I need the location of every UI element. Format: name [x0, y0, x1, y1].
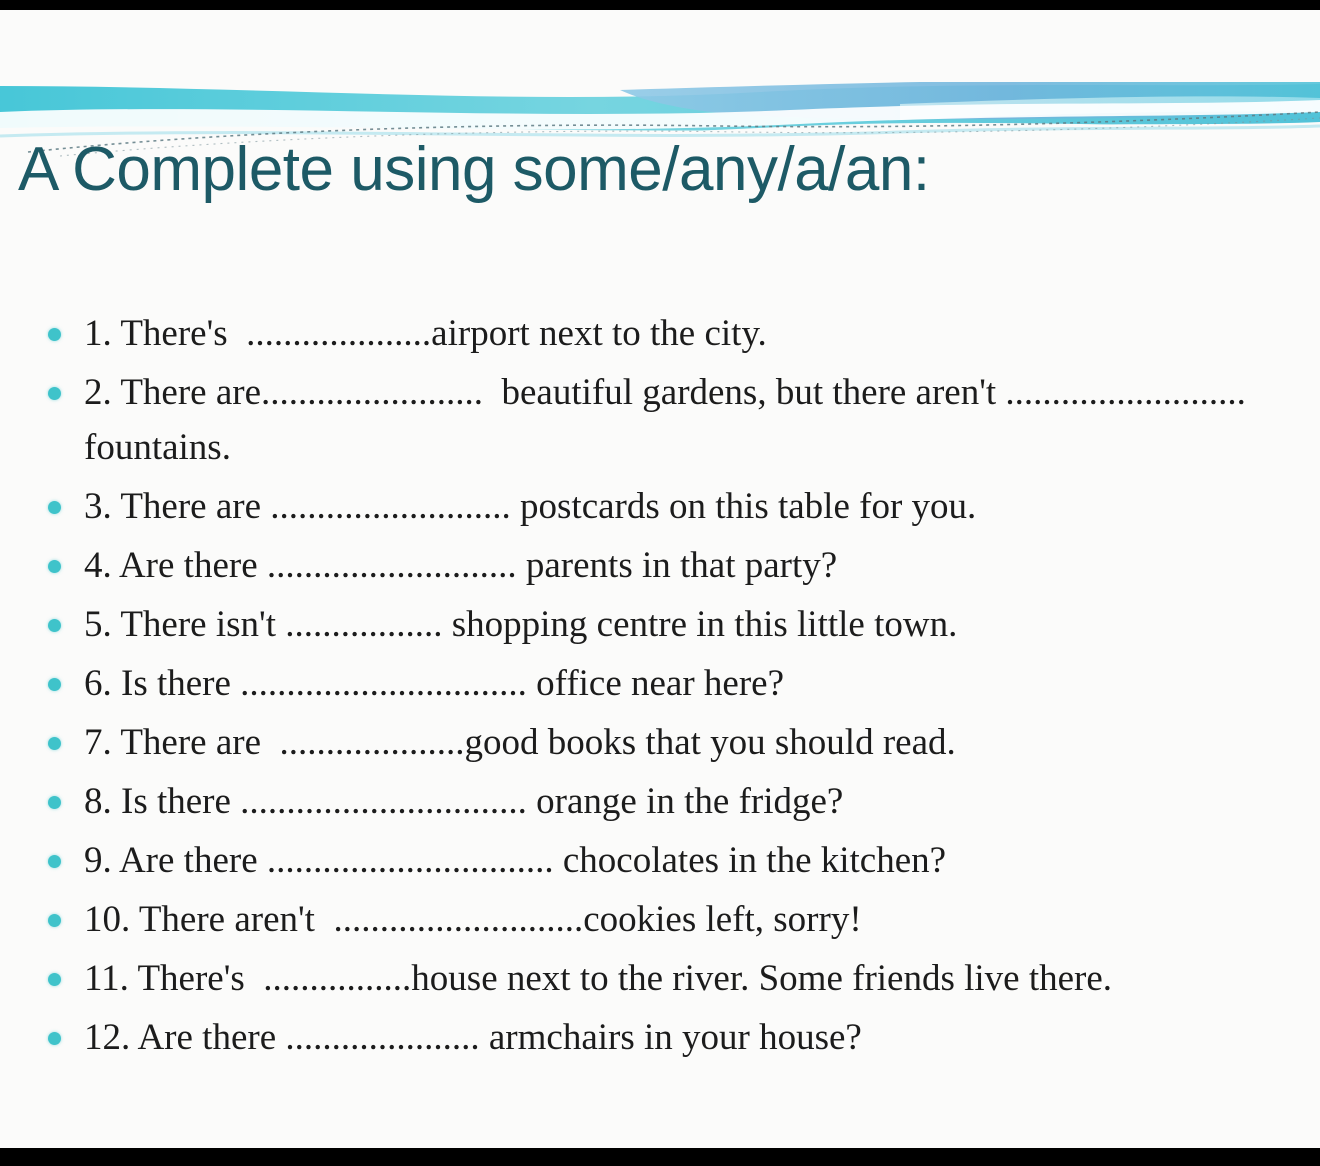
- bullet-dot-icon: [48, 973, 61, 986]
- list-item: 10. There aren't .......................…: [44, 892, 1302, 947]
- bullet-dot-icon: [48, 737, 61, 750]
- list-item-label: 4. Are there ...........................…: [84, 538, 1302, 593]
- bullet-dot-icon: [48, 914, 61, 927]
- list-item-label: 6. Is there ............................…: [84, 656, 1302, 711]
- list-item: 6. Is there ............................…: [44, 656, 1302, 711]
- letterbox-top-bar: [0, 0, 1320, 10]
- bullet-dot-icon: [48, 328, 61, 341]
- list-item-label: 9. Are there ...........................…: [84, 833, 1302, 888]
- list-item: 12. Are there ..................... armc…: [44, 1010, 1302, 1065]
- list-item-label: 8. Is there ............................…: [84, 774, 1302, 829]
- bullet-dot-icon: [48, 678, 61, 691]
- list-item: 1. There's ....................airport n…: [44, 306, 1302, 361]
- bullet-dot-icon: [48, 387, 61, 400]
- list-item: 9. Are there ...........................…: [44, 833, 1302, 888]
- bullet-dot-icon: [48, 855, 61, 868]
- bullet-dot-icon: [48, 1032, 61, 1045]
- bullet-dot-icon: [48, 501, 61, 514]
- list-item-label: 7. There are ....................good bo…: [84, 715, 1302, 770]
- letterbox-bottom-bar: [0, 1148, 1320, 1166]
- slide-canvas: A Complete using some/any/a/an: 1. There…: [0, 10, 1320, 1148]
- bullet-dot-icon: [48, 619, 61, 632]
- list-item-label: 3. There are .......................... …: [84, 479, 1302, 534]
- list-item: 8. Is there ............................…: [44, 774, 1302, 829]
- bullet-dot-icon: [48, 560, 61, 573]
- list-item-label: 2. There are........................ bea…: [84, 365, 1302, 475]
- list-item: 4. Are there ...........................…: [44, 538, 1302, 593]
- list-item: 3. There are .......................... …: [44, 479, 1302, 534]
- page-title: A Complete using some/any/a/an:: [18, 138, 1320, 201]
- list-item-label: 12. Are there ..................... armc…: [84, 1010, 1302, 1065]
- list-item: 11. There's ................house next t…: [44, 951, 1302, 1006]
- list-item: 2. There are........................ bea…: [44, 365, 1302, 475]
- list-item-label: 10. There aren't .......................…: [84, 892, 1302, 947]
- list-item: 5. There isn't ................. shoppin…: [44, 597, 1302, 652]
- list-item-label: 11. There's ................house next t…: [84, 951, 1302, 1006]
- slide-title-row: A Complete using some/any/a/an:: [0, 138, 1320, 201]
- list-item: 7. There are ....................good bo…: [44, 715, 1302, 770]
- list-item-label: 1. There's ....................airport n…: [84, 306, 1302, 361]
- exercise-list: 1. There's ....................airport n…: [0, 306, 1320, 1069]
- list-item-label: 5. There isn't ................. shoppin…: [84, 597, 1302, 652]
- bullet-dot-icon: [48, 796, 61, 809]
